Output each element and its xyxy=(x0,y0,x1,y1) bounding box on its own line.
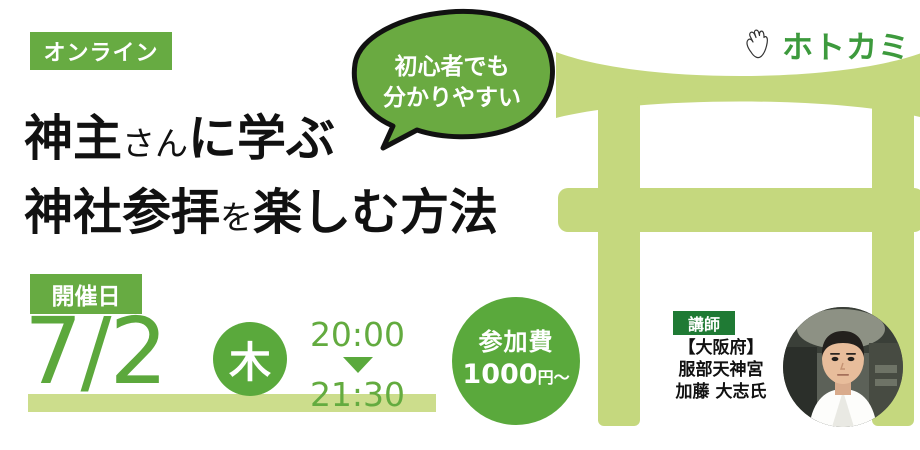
instructor-shrine: 服部天神宮 xyxy=(660,359,782,381)
event-banner: オンライン 神主さんに学ぶ 神社参拝を楽しむ方法 初心者でも 分かりやすい ホト… xyxy=(0,0,920,450)
triangle-down-icon xyxy=(343,357,373,373)
title-part-3: に学ぶ xyxy=(188,110,335,167)
event-time-start: 20:00 xyxy=(310,315,405,354)
fee-amount: 1000円〜 xyxy=(462,359,569,394)
event-date: 7/2 xyxy=(24,306,166,398)
event-weekday-badge: 木 xyxy=(213,322,287,396)
instructor-name: 加藤 大志氏 xyxy=(660,381,782,403)
instructor-portrait-image xyxy=(783,307,903,427)
title-part-4: 神社参拝 xyxy=(24,184,220,241)
badge-online: オンライン xyxy=(30,32,172,70)
logo-text: ホトカミ xyxy=(782,22,910,67)
page-title-line1: 神主さんに学ぶ xyxy=(24,101,335,182)
hand-icon xyxy=(742,28,776,62)
avatar xyxy=(783,307,903,427)
instructor-info: 【大阪府】 服部天神宮 加藤 大志氏 xyxy=(660,337,782,403)
speech-bubble-icon xyxy=(345,8,560,153)
instructor-prefecture: 【大阪府】 xyxy=(660,337,782,359)
title-part-6: 楽しむ方法 xyxy=(253,184,498,241)
title-part-1: 神主 xyxy=(24,110,122,167)
logo[interactable]: ホトカミ xyxy=(742,22,910,67)
page-title-line2: 神社参拝を楽しむ方法 xyxy=(24,175,498,256)
fee-unit: 円〜 xyxy=(538,368,570,387)
event-time-end: 21:30 xyxy=(310,375,405,414)
badge-teacher-label: 講師 xyxy=(673,311,735,335)
event-time: 20:00 21:30 xyxy=(300,313,415,416)
title-part-2: さん xyxy=(122,124,188,163)
fee-label: 参加費 xyxy=(479,328,554,356)
title-part-5: を xyxy=(220,198,253,237)
fee-number: 1000 xyxy=(462,359,537,390)
fee-badge: 参加費 1000円〜 xyxy=(452,297,580,425)
